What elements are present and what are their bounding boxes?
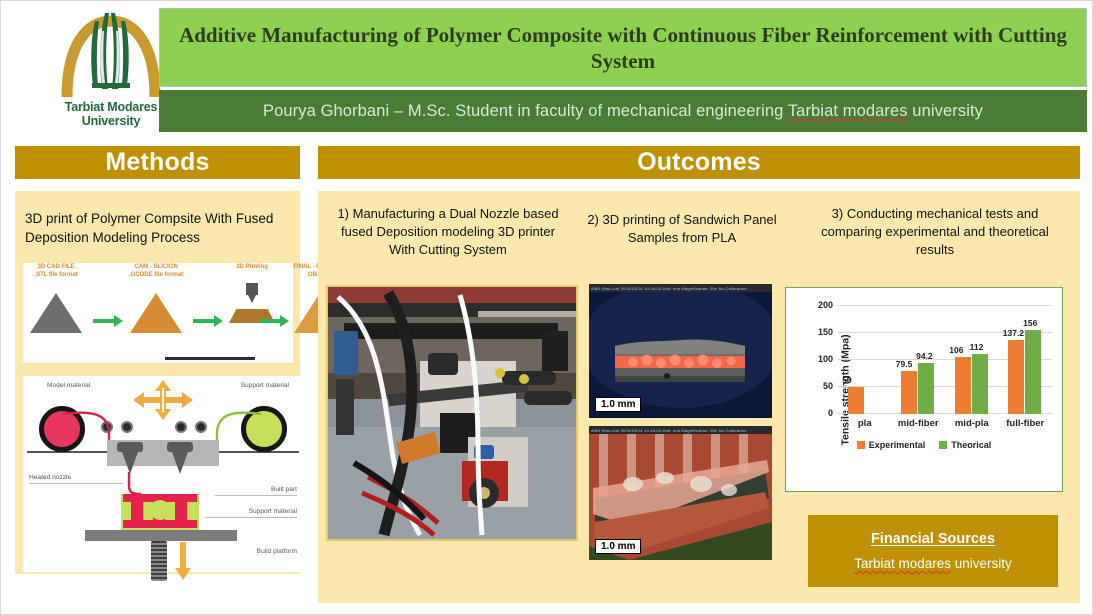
chart-legend-label: Theorical <box>951 440 991 450</box>
methods-heading-label: Methods <box>105 148 209 177</box>
workflow-step-cad-line1: 3D CAD FILE <box>23 263 89 271</box>
chart-bar <box>972 354 988 414</box>
fdm-workflow-diagram: 3D CAD FILE .STL file format CAM - SLICI… <box>23 263 293 363</box>
build-platform-plate <box>85 530 237 541</box>
chart-bar <box>955 357 971 414</box>
chart-value-label: 112 <box>970 342 984 352</box>
chart-value-label: 50 <box>842 375 851 385</box>
tensile-strength-chart: Tensile strength (Mpa) 05010015020050pla… <box>785 287 1063 492</box>
micrograph-sandwich-panel: AMS Dino-Lite 2024/03/14 10:18:24 Unit: … <box>589 426 772 560</box>
financial-sources-affiliation: Tarbiat modares <box>854 556 951 571</box>
nozzle-tip-icon <box>248 295 256 303</box>
chart-y-tick: 200 <box>818 300 833 310</box>
chart-plot-area: 05010015020050pla79.594.2mid-fiber106112… <box>838 306 1052 414</box>
workflow-arrow-1-icon <box>93 319 115 323</box>
built-part-leader-line <box>215 495 297 496</box>
logo-mark <box>61 5 161 101</box>
micrograph-2-scale-bar: 1.0 mm <box>595 539 641 554</box>
logo-line-2: University <box>61 115 161 129</box>
chart-legend-item: Theorical <box>939 440 991 450</box>
printer-photo-render <box>328 287 576 539</box>
printer-photo <box>326 285 578 541</box>
micrograph-2-statusbar: AMS Dino-Lite 2024/03/14 10:18:24 Unit: … <box>589 426 772 434</box>
micrograph-1-statusbar: AMS Dino-Lite 2024/03/14 10:18:24 Unit: … <box>589 284 772 292</box>
micrograph-2-statusbar-text: AMS Dino-Lite 2024/03/14 10:18:24 Unit: … <box>591 428 747 433</box>
poster-title-band: Additive Manufacturing of Polymer Compos… <box>159 8 1087 87</box>
heated-nozzle-leader-line <box>29 483 123 484</box>
chart-value-label: 79.5 <box>896 359 913 369</box>
micrograph-1-statusbar-text: AMS Dino-Lite 2024/03/14 10:18:24 Unit: … <box>591 286 747 291</box>
chart-x-tick: mid-pla <box>945 418 999 429</box>
chart-x-tick: pla <box>838 418 892 429</box>
financial-sources-body: Tarbiat modares university <box>854 556 1012 571</box>
chart-value-label: 94.2 <box>916 351 933 361</box>
chart-bar-group: 106112mid-pla <box>945 306 999 414</box>
author-affiliation-suffix: university <box>908 102 983 120</box>
chart-bar-group: 79.594.2mid-fiber <box>892 306 946 414</box>
platform-down-arrow-icon <box>175 542 191 580</box>
author-affiliation: Tarbiat modares <box>788 102 908 120</box>
workflow-step-printing-line1: 3D Printing <box>219 263 285 271</box>
built-part-gear-icon <box>121 488 199 532</box>
build-platform-screw-icon <box>151 541 167 581</box>
nozzle-left-icon <box>117 442 143 452</box>
methods-caption: 3D print of Polymer Compsite With Fused … <box>25 209 291 247</box>
chart-bar <box>918 363 934 414</box>
author-line: Pourya Ghorbani – M.Sc. Student in facul… <box>263 102 983 121</box>
chart-y-tick: 0 <box>828 408 833 418</box>
chart-bar <box>901 371 917 414</box>
chart-bar-group: 137.2156full-fiber <box>999 306 1053 414</box>
nozzle-left-tip-icon <box>122 452 138 474</box>
nozzle-right-icon <box>167 442 193 452</box>
author-name: Pourya Ghorbani – M.Sc. Student in facul… <box>263 102 788 120</box>
financial-sources-box: Financial Sources Tarbiat modares univer… <box>808 515 1058 587</box>
chart-y-tick: 100 <box>818 354 833 364</box>
workflow-arrow-3-icon <box>259 319 281 323</box>
workflow-step-cad: 3D CAD FILE .STL file format <box>23 263 89 333</box>
chart-legend-label: Experimental <box>869 440 926 450</box>
author-band: Pourya Ghorbani – M.Sc. Student in facul… <box>159 90 1087 132</box>
fdm-schematic-diagram: Model material Support material <box>23 376 303 572</box>
chart-x-tick: full-fiber <box>999 418 1053 429</box>
university-logo: Tarbiat Modares University <box>61 5 161 135</box>
schematic-label-heated-nozzle: Heated nozzle <box>29 474 71 481</box>
logo-line-1: Tarbiat Modares <box>61 101 161 115</box>
micrograph-cross-section: AMS Dino-Lite 2024/03/14 10:18:24 Unit: … <box>589 284 772 418</box>
micrograph-1-scale-bar: 1.0 mm <box>595 397 641 412</box>
schematic-label-build-platform: Build platform <box>257 548 297 555</box>
workflow-step-cad-line2: .STL file format <box>23 271 89 279</box>
nozzle-icon <box>246 283 258 295</box>
chart-value-label: 137.2 <box>1003 328 1024 338</box>
workflow-step-printing: 3D Printing <box>219 263 285 327</box>
chart-legend-swatch <box>857 441 865 449</box>
chart-bar <box>1025 330 1041 414</box>
sliced-pyramid-icon <box>130 293 182 333</box>
support-material-leader-line <box>205 517 297 518</box>
methods-panel: 3D print of Polymer Compsite With Fused … <box>15 191 300 574</box>
outcomes-panel: 1) Manufacturing a Dual Nozzle based fus… <box>318 191 1080 603</box>
schematic-label-built-part: Built part <box>271 486 297 493</box>
chart-x-tick: mid-fiber <box>892 418 946 429</box>
grey-pyramid-icon <box>30 293 82 333</box>
outcome-item-2: 2) 3D printing of Sandwich Panel Samples… <box>576 211 788 247</box>
chart-legend-item: Experimental <box>857 440 926 450</box>
outcome-item-1: 1) Manufacturing a Dual Nozzle based fus… <box>328 205 568 259</box>
workflow-arrow-2-icon <box>193 319 215 323</box>
outcome-item-3: 3) Conducting mechanical tests and compa… <box>804 205 1066 259</box>
page-title: Additive Manufacturing of Polymer Compos… <box>160 22 1086 74</box>
print-bed-line <box>165 357 255 360</box>
chart-value-label: 106 <box>949 345 963 355</box>
methods-caption-line-1: 3D print of Polymer Compsite With <box>25 211 232 226</box>
outcomes-section-header: Outcomes <box>318 146 1080 179</box>
chart-legend-swatch <box>939 441 947 449</box>
tarbiat-modares-logo-icon <box>61 5 161 101</box>
chart-value-label: 156 <box>1023 318 1037 328</box>
financial-sources-title: Financial Sources <box>871 531 995 547</box>
workflow-step-cam: CAM - SLICIGN .GCODE file format <box>123 263 189 333</box>
nozzle-right-tip-icon <box>172 452 188 474</box>
chart-legend: ExperimentalTheorical <box>786 440 1062 450</box>
outcomes-heading-label: Outcomes <box>637 148 761 177</box>
chart-y-tick: 150 <box>818 327 833 337</box>
chart-bar <box>1008 340 1024 414</box>
chart-bar-group: 50pla <box>838 306 892 414</box>
chart-y-tick: 50 <box>823 381 833 391</box>
schematic-label-support-material-side: Support material <box>249 508 297 515</box>
chart-bar <box>848 387 864 414</box>
methods-section-header: Methods <box>15 146 300 179</box>
workflow-step-cam-line1: CAM - SLICIGN <box>123 263 189 271</box>
workflow-step-cam-line2: .GCODE file format <box>123 271 189 279</box>
poster-canvas: Tarbiat Modares University Additive Manu… <box>0 0 1093 615</box>
